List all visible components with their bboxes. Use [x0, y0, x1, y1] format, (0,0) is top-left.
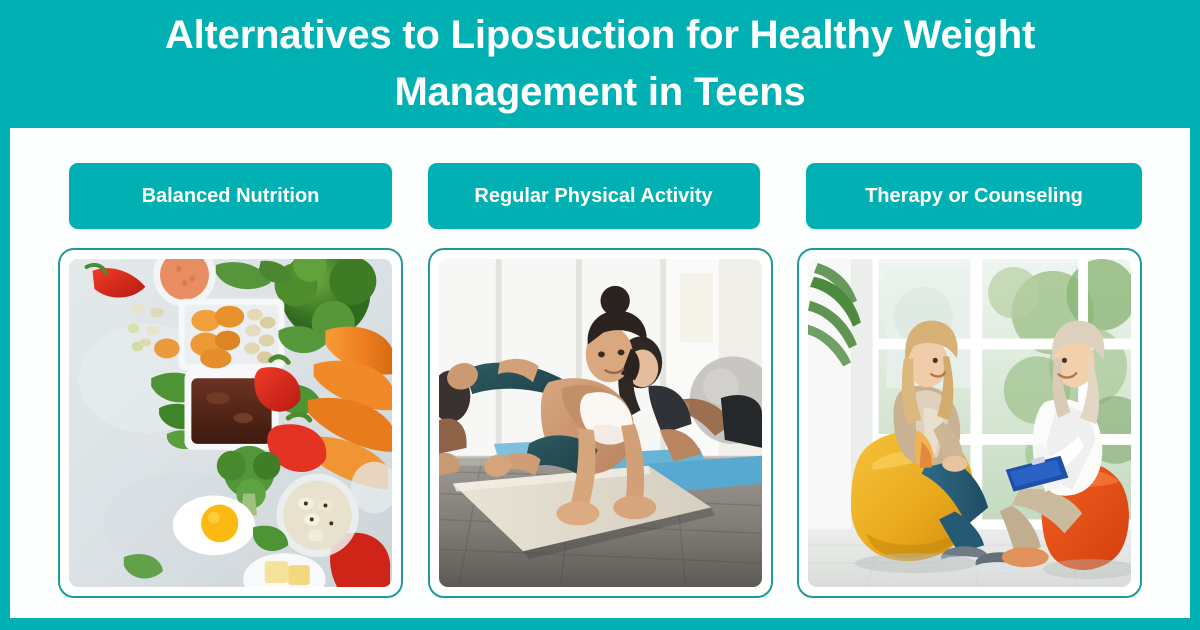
page-header-banner: Alternatives to Liposuction for Healthy … [0, 0, 1200, 128]
photo-counseling-session [808, 259, 1131, 587]
photo-healthy-food [69, 259, 392, 587]
infographic-page: Alternatives to Liposuction for Healthy … [0, 0, 1200, 630]
image-card-balanced-nutrition [58, 248, 403, 598]
image-card-therapy-or-counseling [797, 248, 1142, 598]
photo-yoga-class [439, 259, 762, 587]
page-title: Alternatives to Liposuction for Healthy … [55, 7, 1145, 121]
category-pill-label: Regular Physical Activity [474, 184, 712, 208]
category-pill-label: Balanced Nutrition [142, 184, 320, 208]
content-panel: Balanced Nutrition [10, 128, 1190, 618]
column-balanced-nutrition: Balanced Nutrition [58, 163, 403, 598]
image-card-regular-physical-activity [428, 248, 773, 598]
category-pill-regular-physical-activity[interactable]: Regular Physical Activity [428, 163, 760, 229]
bottom-accent-strip [0, 618, 1200, 630]
category-pill-therapy-or-counseling[interactable]: Therapy or Counseling [806, 163, 1142, 229]
column-therapy-or-counseling: Therapy or Counseling [797, 163, 1142, 598]
category-pill-label: Therapy or Counseling [865, 184, 1083, 208]
column-regular-physical-activity: Regular Physical Activity [428, 163, 773, 598]
category-pill-balanced-nutrition[interactable]: Balanced Nutrition [69, 163, 392, 229]
